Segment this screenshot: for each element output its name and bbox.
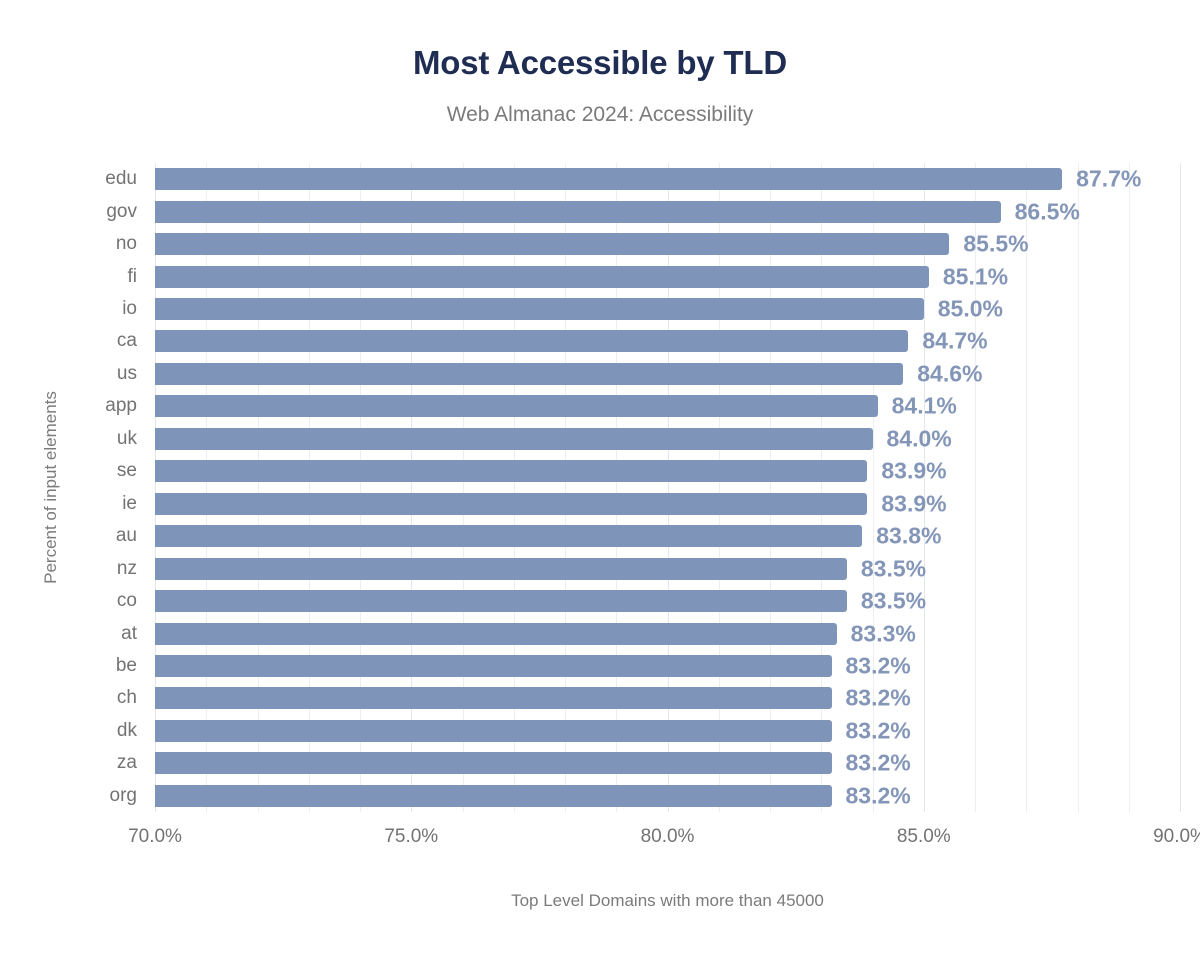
bar-value-label: 83.5% (861, 555, 926, 582)
bar[interactable] (155, 201, 1001, 223)
bar[interactable] (155, 330, 908, 352)
bar-value-label: 83.9% (881, 458, 946, 485)
y-axis-tick-io: io (122, 298, 137, 320)
x-axis-tick-label: 70.0% (128, 826, 182, 848)
y-axis-tick-edu: edu (105, 168, 137, 190)
x-axis-tick-label: 85.0% (897, 826, 951, 848)
bar-value-label: 84.0% (887, 425, 952, 452)
bar[interactable] (155, 493, 867, 515)
y-axis-tick-fi: fi (128, 266, 138, 288)
y-axis-tick-ch: ch (117, 687, 137, 709)
plot-area: 87.7%86.5%85.5%85.1%85.0%84.7%84.6%84.1%… (155, 163, 1180, 812)
bar[interactable] (155, 460, 867, 482)
x-axis-tick-label: 80.0% (641, 826, 695, 848)
bar-value-label: 83.2% (846, 782, 911, 809)
x-axis-title: Top Level Domains with more than 45000 (155, 891, 1180, 911)
bar-row[interactable]: 84.0% (155, 428, 1180, 450)
bar[interactable] (155, 655, 832, 677)
bar[interactable] (155, 266, 929, 288)
bar-row[interactable]: 87.7% (155, 168, 1180, 190)
y-axis-tick-za: za (117, 752, 137, 774)
bar-value-label: 86.5% (1015, 198, 1080, 225)
bar-series: 87.7%86.5%85.5%85.1%85.0%84.7%84.6%84.1%… (155, 163, 1180, 812)
bar-value-label: 83.9% (881, 490, 946, 517)
bar-value-label: 83.2% (846, 750, 911, 777)
bar[interactable] (155, 168, 1062, 190)
bar[interactable] (155, 298, 924, 320)
y-axis-tick-au: au (116, 525, 137, 547)
bar-row[interactable]: 83.2% (155, 785, 1180, 807)
y-axis-tick-labels: edugovnofiiocausappukseieaunzcoatbechdkz… (0, 163, 147, 812)
bar[interactable] (155, 623, 837, 645)
bar-row[interactable]: 83.5% (155, 590, 1180, 612)
bar-value-label: 83.8% (876, 523, 941, 550)
bar-row[interactable]: 85.0% (155, 298, 1180, 320)
bar-row[interactable]: 83.2% (155, 687, 1180, 709)
bar-row[interactable]: 83.9% (155, 460, 1180, 482)
bar[interactable] (155, 590, 847, 612)
y-axis-tick-be: be (116, 655, 137, 677)
bar-value-label: 87.7% (1076, 166, 1141, 193)
bar-value-label: 83.2% (846, 685, 911, 712)
bar-value-label: 85.0% (938, 296, 1003, 323)
y-axis-tick-nz: nz (117, 558, 137, 580)
bar[interactable] (155, 720, 832, 742)
y-axis-tick-dk: dk (117, 720, 137, 742)
y-axis-tick-ca: ca (117, 330, 137, 352)
y-axis-tick-org: org (110, 785, 137, 807)
bar-value-label: 84.7% (922, 328, 987, 355)
bar[interactable] (155, 558, 847, 580)
y-axis-tick-ie: ie (122, 493, 137, 515)
x-axis-tick-labels: 70.0%75.0%80.0%85.0%90.0% (155, 826, 1180, 856)
bar-value-label: 83.3% (851, 620, 916, 647)
bar-row[interactable]: 83.9% (155, 493, 1180, 515)
bar[interactable] (155, 687, 832, 709)
chart-container: Most Accessible by TLD Web Almanac 2024:… (0, 0, 1200, 966)
bar-value-label: 84.1% (892, 393, 957, 420)
bar[interactable] (155, 785, 832, 807)
bar-row[interactable]: 83.3% (155, 623, 1180, 645)
bar-row[interactable]: 84.1% (155, 395, 1180, 417)
bar-row[interactable]: 83.5% (155, 558, 1180, 580)
bar-value-label: 83.5% (861, 588, 926, 615)
bar[interactable] (155, 428, 873, 450)
bar-row[interactable]: 85.1% (155, 266, 1180, 288)
bar-row[interactable]: 83.2% (155, 655, 1180, 677)
x-axis-tick-label: 90.0% (1153, 826, 1200, 848)
bar-row[interactable]: 84.6% (155, 363, 1180, 385)
bar-row[interactable]: 84.7% (155, 330, 1180, 352)
y-axis-tick-se: se (117, 460, 137, 482)
bar-value-label: 85.1% (943, 263, 1008, 290)
y-axis-tick-gov: gov (106, 201, 137, 223)
bar[interactable] (155, 395, 878, 417)
gridline-major (1180, 163, 1181, 812)
bar-row[interactable]: 83.8% (155, 525, 1180, 547)
y-axis-tick-us: us (117, 363, 137, 385)
chart-title: Most Accessible by TLD (0, 44, 1200, 82)
bar-value-label: 84.6% (917, 360, 982, 387)
bar[interactable] (155, 525, 862, 547)
bar-row[interactable]: 86.5% (155, 201, 1180, 223)
bar-row[interactable]: 85.5% (155, 233, 1180, 255)
y-axis-tick-co: co (117, 590, 137, 612)
bar[interactable] (155, 363, 903, 385)
bar-row[interactable]: 83.2% (155, 752, 1180, 774)
bar-value-label: 83.2% (846, 717, 911, 744)
y-axis-tick-at: at (121, 623, 137, 645)
y-axis-tick-no: no (116, 233, 137, 255)
bar[interactable] (155, 752, 832, 774)
y-axis-tick-uk: uk (117, 428, 137, 450)
bar-value-label: 85.5% (963, 231, 1028, 258)
bar-row[interactable]: 83.2% (155, 720, 1180, 742)
chart-subtitle: Web Almanac 2024: Accessibility (0, 103, 1200, 127)
bar[interactable] (155, 233, 949, 255)
bar-value-label: 83.2% (846, 652, 911, 679)
x-axis-tick-label: 75.0% (384, 826, 438, 848)
y-axis-tick-app: app (105, 395, 137, 417)
